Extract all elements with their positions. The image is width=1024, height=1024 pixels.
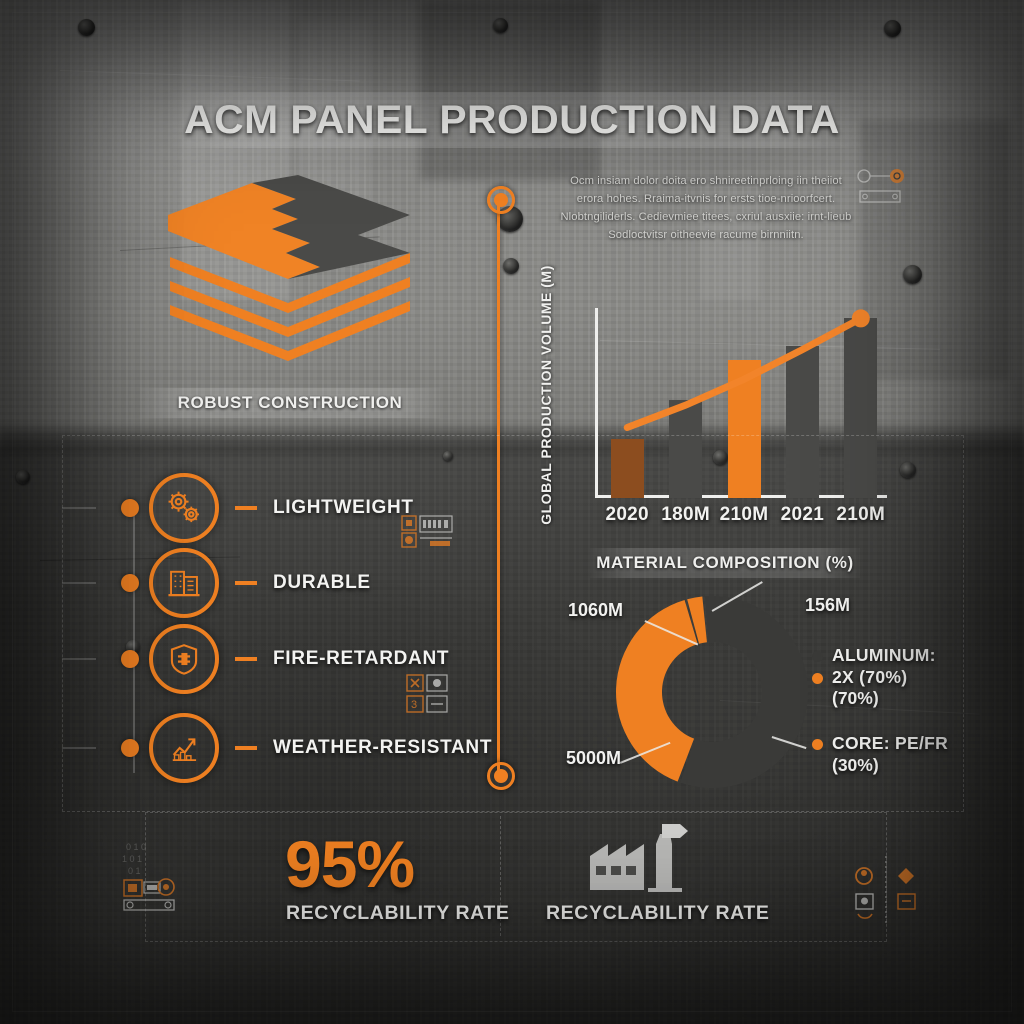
connector-diagram-icon — [852, 166, 910, 206]
feature-bullet — [121, 739, 139, 757]
feature-label: FIRE-RETARDANT — [273, 648, 449, 670]
page-title: ACM PANEL PRODUCTION DATA — [0, 92, 1024, 148]
svg-text:0 1 0: 0 1 0 — [126, 842, 146, 852]
infographic-canvas: ACM PANEL PRODUCTION DATA ROBUST CONSTRU… — [0, 0, 1024, 1024]
stat-caption-right: RECYCLABILITY RATE — [546, 902, 770, 925]
factory-icon — [586, 822, 690, 894]
stat-caption-left: RECYCLABILITY RATE — [286, 902, 510, 925]
feature-item-durable[interactable]: DURABLE — [62, 548, 371, 618]
building-icon — [149, 548, 219, 618]
rail-stub — [62, 658, 96, 660]
feature-bullet — [121, 650, 139, 668]
tech-glyph-icon — [848, 856, 924, 926]
stats-panel — [145, 812, 887, 942]
growth-chart-icon — [149, 713, 219, 783]
feature-item-fire-retardant[interactable]: FIRE-RETARDANT — [62, 624, 449, 694]
intro-paragraph: Ocm insiam dolor doita ero shnireetinprl… — [560, 172, 852, 245]
feature-label: DURABLE — [273, 572, 371, 594]
feature-dash — [235, 657, 257, 661]
svg-text:3: 3 — [411, 699, 417, 711]
feature-dash — [235, 506, 257, 510]
feature-bullet — [121, 499, 139, 517]
rivet — [493, 18, 508, 33]
rail-stub — [62, 747, 96, 749]
rail-stub — [62, 507, 96, 509]
rivet — [884, 20, 901, 37]
tech-glyph-icon: 3 — [405, 672, 449, 722]
product-graphic-label: ROBUST CONSTRUCTION — [140, 388, 440, 418]
isometric-layered-panel-icon — [160, 175, 420, 365]
feature-bullet — [121, 574, 139, 592]
feature-dash — [235, 746, 257, 750]
feature-label: WEATHER-RESISTANT — [273, 737, 492, 759]
rivet — [16, 470, 30, 484]
gears-icon — [149, 473, 219, 543]
feature-item-weather-resistant[interactable]: WEATHER-RESISTANT — [62, 713, 492, 783]
feature-label: LIGHTWEIGHT — [273, 497, 414, 519]
rivet — [503, 258, 519, 274]
tech-glyph-icon — [400, 512, 456, 558]
stat-value-95: 95% — [285, 826, 414, 902]
feature-item-lightweight[interactable]: LIGHTWEIGHT — [62, 473, 414, 543]
background-stain — [420, 0, 600, 180]
shield-icon — [149, 624, 219, 694]
rivet — [78, 19, 95, 36]
feature-dash — [235, 581, 257, 585]
svg-text:0 1: 0 1 — [128, 866, 141, 876]
tech-glyph-icon: 0 1 01 0 10 1 — [108, 838, 182, 914]
svg-text:1 0 1: 1 0 1 — [122, 854, 142, 864]
connector-node-top — [487, 186, 515, 214]
rail-stub — [62, 582, 96, 584]
